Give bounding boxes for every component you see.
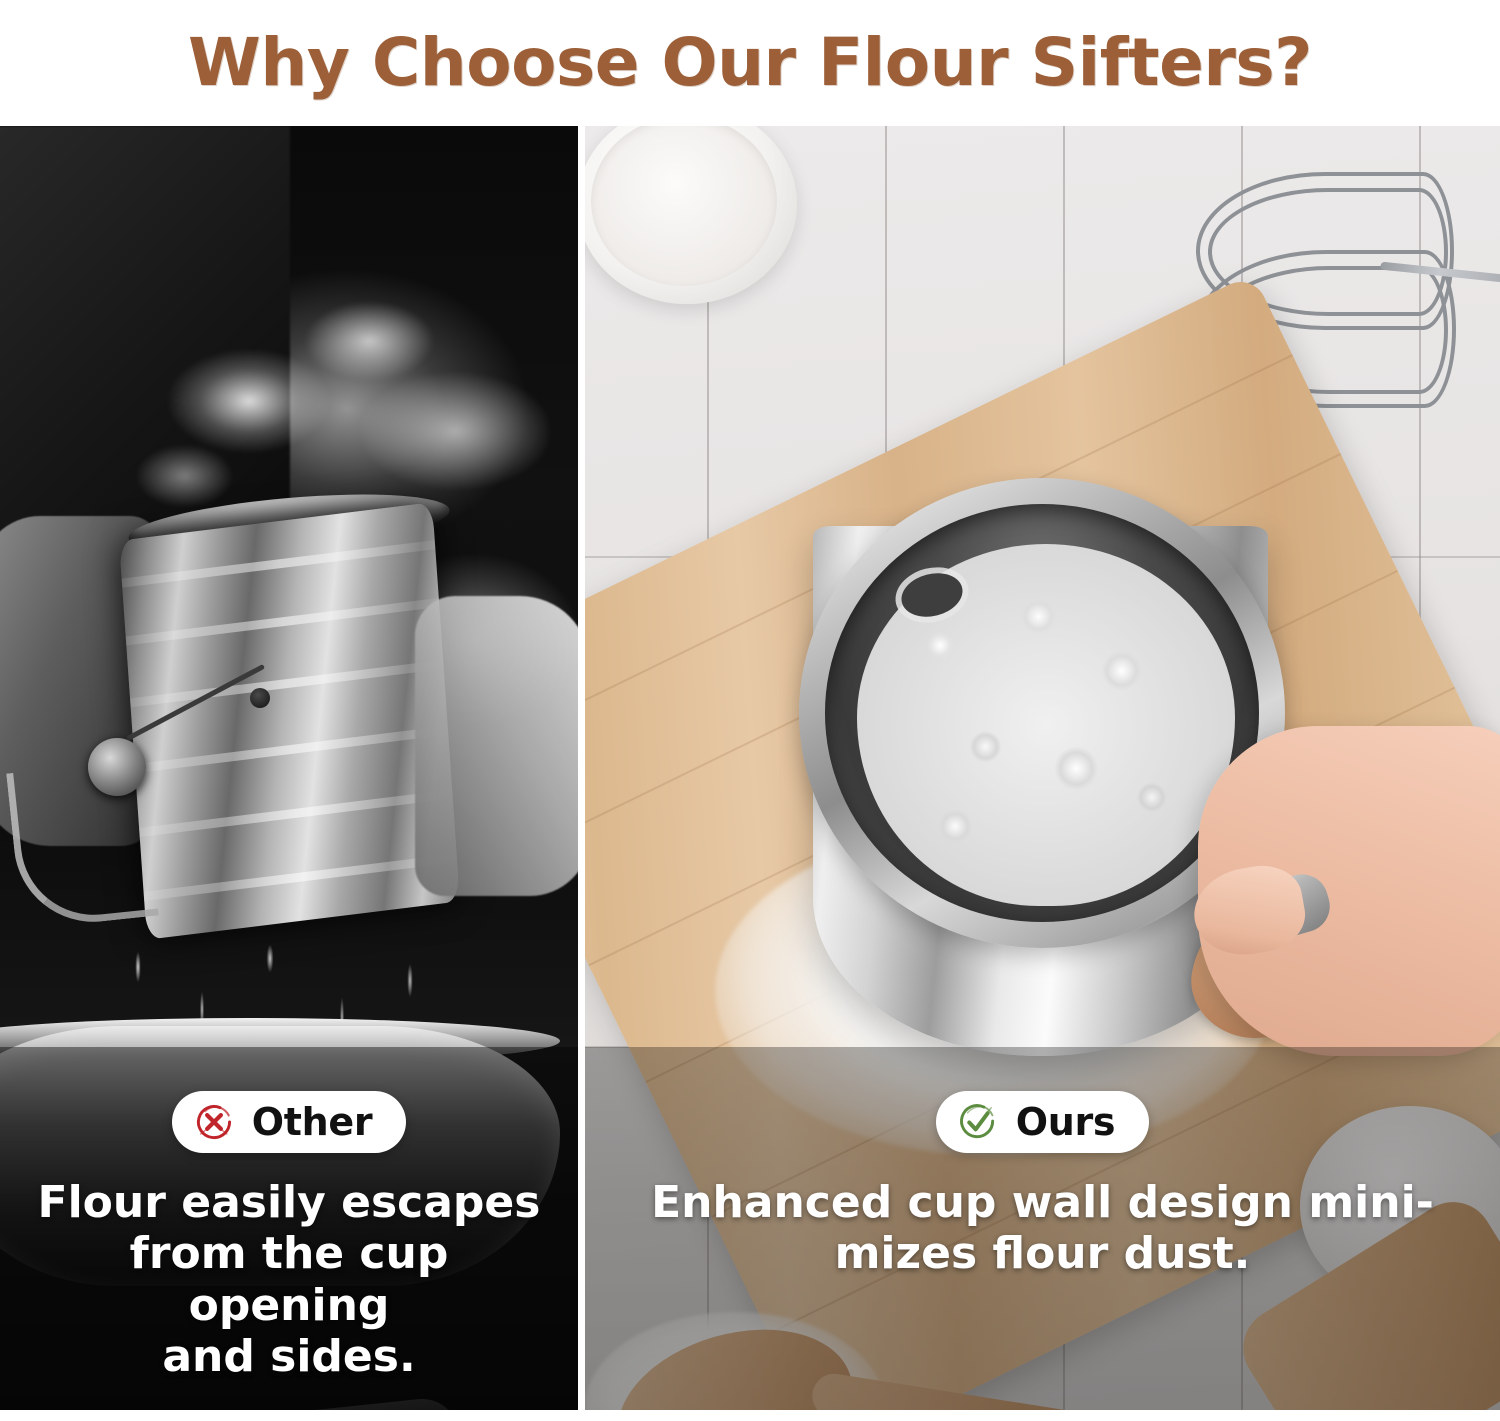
comparison-strip: Other Flour easily escapes from the cup … — [0, 126, 1500, 1410]
ours-caption-block: Ours Enhanced cup wall design mini- mize… — [585, 1047, 1500, 1410]
other-caption-text: Flour easily escapes from the cup openin… — [0, 1177, 578, 1383]
status-badge-other-label: Other — [252, 1103, 373, 1141]
page-title: Why Choose Our Flour Sifters? — [188, 30, 1312, 96]
ours-caption-text: Enhanced cup wall design mini- mizes flo… — [625, 1177, 1460, 1280]
status-badge-ours: Ours — [936, 1091, 1150, 1153]
status-badge-other: Other — [172, 1091, 407, 1153]
sifter-handle-shape — [6, 759, 159, 929]
floury-hand-shape — [415, 596, 578, 896]
circle-x-icon — [192, 1100, 236, 1144]
circle-check-icon — [956, 1100, 1000, 1144]
sifter-body-shape — [119, 502, 460, 939]
sifter-crank-pin-shape — [250, 688, 270, 708]
comparison-panel-ours: Ours Enhanced cup wall design mini- mize… — [585, 126, 1500, 1410]
panel-gutter — [578, 126, 585, 1410]
status-badge-ours-label: Ours — [1016, 1103, 1116, 1141]
page-header: Why Choose Our Flour Sifters? — [0, 0, 1500, 126]
other-caption-block: Other Flour easily escapes from the cup … — [0, 1047, 578, 1410]
comparison-panel-other: Other Flour easily escapes from the cup … — [0, 126, 578, 1410]
bottom-margin — [0, 1410, 1500, 1421]
